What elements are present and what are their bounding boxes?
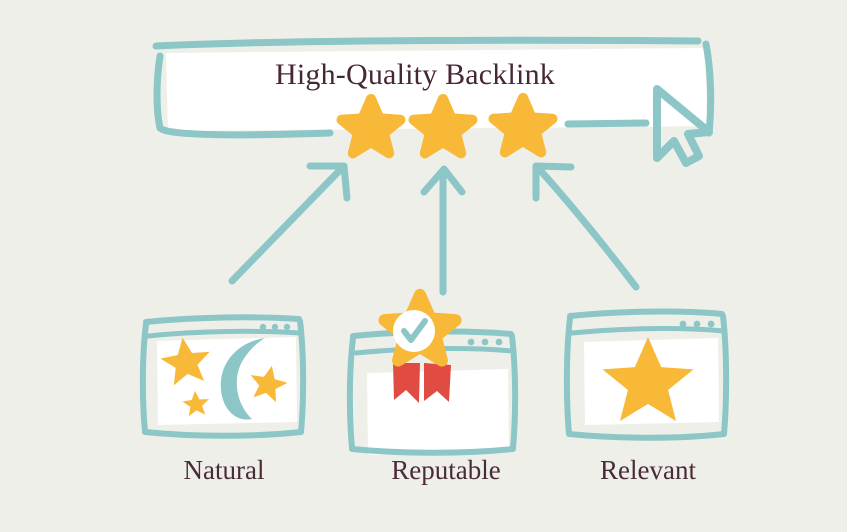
card-natural-frame-bottom xyxy=(145,432,301,436)
arrows-group xyxy=(232,166,636,292)
banner-stroke-bottom-dash xyxy=(568,123,646,124)
card-natural-frame-top xyxy=(146,317,299,322)
banner-stroke-top xyxy=(156,40,698,46)
arrow-reputable xyxy=(424,169,462,292)
card-reputable-frame-right xyxy=(512,336,515,448)
card-relevant-frame-top xyxy=(570,312,722,316)
card-reputable[interactable] xyxy=(350,295,515,455)
card-relevant-frame-bottom xyxy=(569,434,724,438)
card-relevant[interactable] xyxy=(567,312,726,438)
card-reputable-frame-left xyxy=(350,338,353,448)
infographic-artwork xyxy=(0,0,847,532)
card-natural-frame-right xyxy=(300,321,303,432)
infographic-canvas: High-Quality Backlink Natural Reputable … xyxy=(0,0,847,532)
card-reputable-window-dots xyxy=(468,339,503,346)
card-relevant-window-dots xyxy=(680,321,715,328)
card-relevant-frame-right xyxy=(723,316,726,434)
card-relevant-frame-titlebar xyxy=(572,329,723,333)
banner-group xyxy=(156,40,711,163)
card-natural[interactable] xyxy=(143,317,303,435)
arrow-natural xyxy=(232,166,347,281)
card-natural-frame-titlebar xyxy=(148,331,300,336)
card-relevant-frame-left xyxy=(567,318,570,434)
banner-stroke-right xyxy=(706,44,711,133)
card-natural-frame-left xyxy=(143,324,146,432)
card-natural-window-dots xyxy=(260,324,290,330)
arrow-relevant xyxy=(536,166,636,287)
